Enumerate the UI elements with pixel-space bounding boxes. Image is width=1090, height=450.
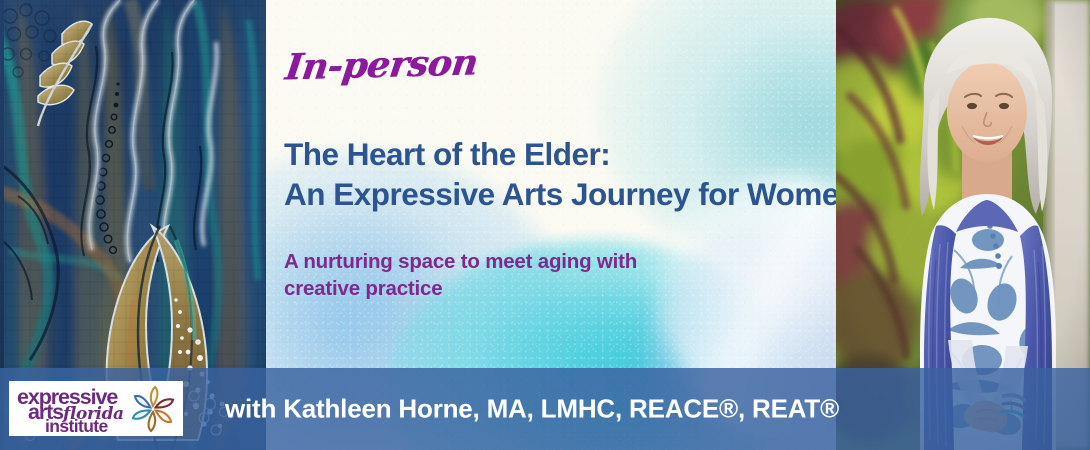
format-kicker: In-person — [283, 42, 480, 89]
logo-wordmark: expressive artsflorida institute — [17, 385, 127, 433]
page-title-line-2: An Expressive Arts Journey for Women — [284, 174, 832, 214]
organization-logo[interactable]: expressive artsflorida institute — [9, 381, 183, 436]
page-subtitle-line-1: A nurturing space to meet aging with — [284, 248, 714, 275]
six-petal-flower-icon — [129, 385, 177, 433]
page-subtitle: A nurturing space to meet aging with cre… — [284, 248, 714, 302]
page-subtitle-line-2: creative practice — [284, 275, 714, 302]
page-title-line-1: The Heart of the Elder: — [284, 134, 832, 174]
presenter-name: with Kathleen Horne, MA, LMHC, REACE®, R… — [225, 394, 839, 425]
page-title: The Heart of the Elder: An Expressive Ar… — [284, 134, 832, 215]
logo-line-institute: institute — [45, 418, 108, 436]
event-promo-banner: In-person The Heart of the Elder: An Exp… — [0, 0, 1090, 450]
